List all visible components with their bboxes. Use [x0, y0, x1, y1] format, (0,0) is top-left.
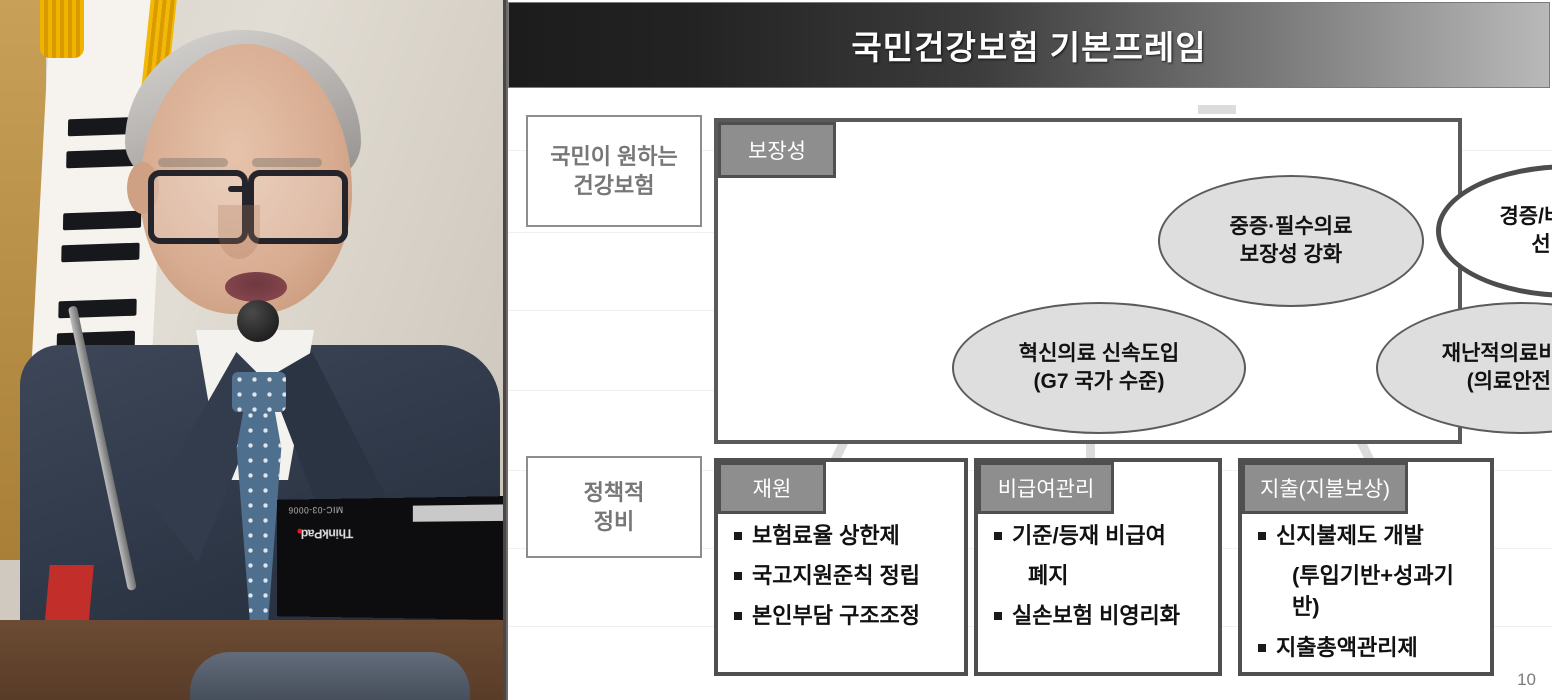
policy-tag-funding: 재원	[718, 462, 826, 514]
bullet-square-icon	[994, 612, 1002, 620]
list-item-continuation: 폐지	[1018, 560, 1208, 591]
node-severe-essential-care[interactable]: 중증·필수의료 보장성 강화	[1158, 175, 1424, 307]
list-item-continuation: (투입기반+성과기반)	[1282, 560, 1480, 622]
list-item-label: 본인부담 구조조정	[752, 600, 920, 631]
screenshot-root: MIC-03-0006 ThinkPad 국민건강보험 기본프레임 국민이 원하…	[0, 0, 1552, 700]
microphone-head	[237, 300, 279, 342]
slide-title-bar: 국민건강보험 기본프레임	[508, 2, 1550, 88]
bullet-square-icon	[734, 612, 742, 620]
thinkpad-logo: ThinkPad	[301, 526, 353, 541]
side-label-line1: 정책적	[584, 480, 645, 505]
node-catastrophic-cost-coverage[interactable]: 재난적의료비 보장 (의료안전망)	[1376, 302, 1552, 434]
slide-title: 국민건강보험 기본프레임	[851, 21, 1206, 69]
node-mild-nonessential-care[interactable]: 경증/비필수의료 선별보장	[1436, 164, 1552, 298]
presenter-photo: MIC-03-0006 ThinkPad	[0, 0, 505, 700]
list-item-label: 국고지원준칙 정립	[752, 560, 920, 591]
policy-tag-expenditure: 지출(지불보상)	[1242, 462, 1408, 514]
thinkpad-logo-dot	[297, 529, 302, 534]
chair-back	[190, 652, 470, 700]
node-line2: (의료안전망)	[1467, 370, 1552, 393]
presentation-slide: 국민건강보험 기본프레임 국민이 원하는 건강보험 정책적 정비	[506, 0, 1552, 700]
section-tag-coverage: 보장성	[718, 122, 836, 178]
list-item: 본인부담 구조조정	[734, 600, 954, 631]
list-item-label: (투입기반+성과기반)	[1292, 560, 1480, 622]
node-line1: 재난적의료비 보장	[1442, 342, 1552, 365]
node-line1: 중증·필수의료	[1230, 215, 1353, 238]
list-item-label: 보험료율 상한제	[752, 520, 900, 551]
page-number: 10	[1517, 670, 1536, 690]
eyeglasses-right-lens	[248, 170, 348, 244]
presenter-eyebrow-left	[158, 158, 228, 167]
thinkpad-laptop: MIC-03-0006 ThinkPad	[277, 496, 505, 620]
node-innovative-care-adoption[interactable]: 혁신의료 신속도입 (G7 국가 수준)	[952, 302, 1246, 434]
side-label-line2: 정비	[594, 509, 634, 534]
eyeglasses-bridge	[228, 186, 252, 192]
node-line1: 경증/비필수의료	[1499, 205, 1552, 228]
flag-tassel-left	[40, 0, 84, 58]
presenter-eyebrow-right	[252, 158, 322, 167]
policy-bullet-list: 보험료율 상한제 국고지원준칙 정립 본인부담 구조조정	[718, 520, 964, 641]
laptop-mic-label: MIC-03-0006	[288, 505, 343, 516]
list-item: 기준/등재 비급여	[994, 520, 1208, 551]
side-label-line2: 건강보험	[574, 173, 655, 198]
list-item: 실손보험 비영리화	[994, 600, 1208, 631]
side-label-citizen-wish: 국민이 원하는 건강보험	[526, 115, 702, 227]
bullet-square-icon	[734, 532, 742, 540]
list-item-label: 기준/등재 비급여	[1012, 520, 1166, 551]
connector-line	[1198, 105, 1236, 114]
bullet-square-icon	[1258, 532, 1266, 540]
list-item-label: 신지불제도 개발	[1276, 520, 1424, 551]
policy-bullet-list: 신지불제도 개발 (투입기반+성과기반) 지출총액관리제	[1242, 520, 1490, 672]
list-item: 보험료율 상한제	[734, 520, 954, 551]
policy-tag-noncovered-management: 비급여관리	[978, 462, 1114, 514]
laptop-screen-edge	[413, 504, 505, 521]
bullet-square-icon	[1258, 644, 1266, 652]
bullet-square-icon	[734, 572, 742, 580]
list-item-label: 폐지	[1028, 560, 1068, 591]
presenter-mouth	[225, 272, 287, 302]
policy-bullet-list: 기준/등재 비급여 폐지 실손보험 비영리화	[978, 520, 1218, 641]
list-item-label: 실손보험 비영리화	[1012, 600, 1180, 631]
side-label-policy-reform: 정책적 정비	[526, 456, 702, 558]
node-line2: (G7 국가 수준)	[1034, 370, 1165, 393]
side-label-line1: 국민이 원하는	[550, 144, 678, 169]
list-item: 신지불제도 개발	[1258, 520, 1480, 551]
presenter-nose	[218, 205, 260, 259]
node-line2: 선별보장	[1531, 233, 1552, 256]
list-item: 지출총액관리제	[1258, 632, 1480, 663]
node-line1: 혁신의료 신속도입	[1019, 342, 1179, 365]
tie-knot	[232, 372, 286, 412]
list-item: 국고지원준칙 정립	[734, 560, 954, 591]
node-line2: 보장성 강화	[1240, 243, 1342, 266]
bullet-square-icon	[994, 532, 1002, 540]
list-item-label: 지출총액관리제	[1276, 632, 1418, 663]
